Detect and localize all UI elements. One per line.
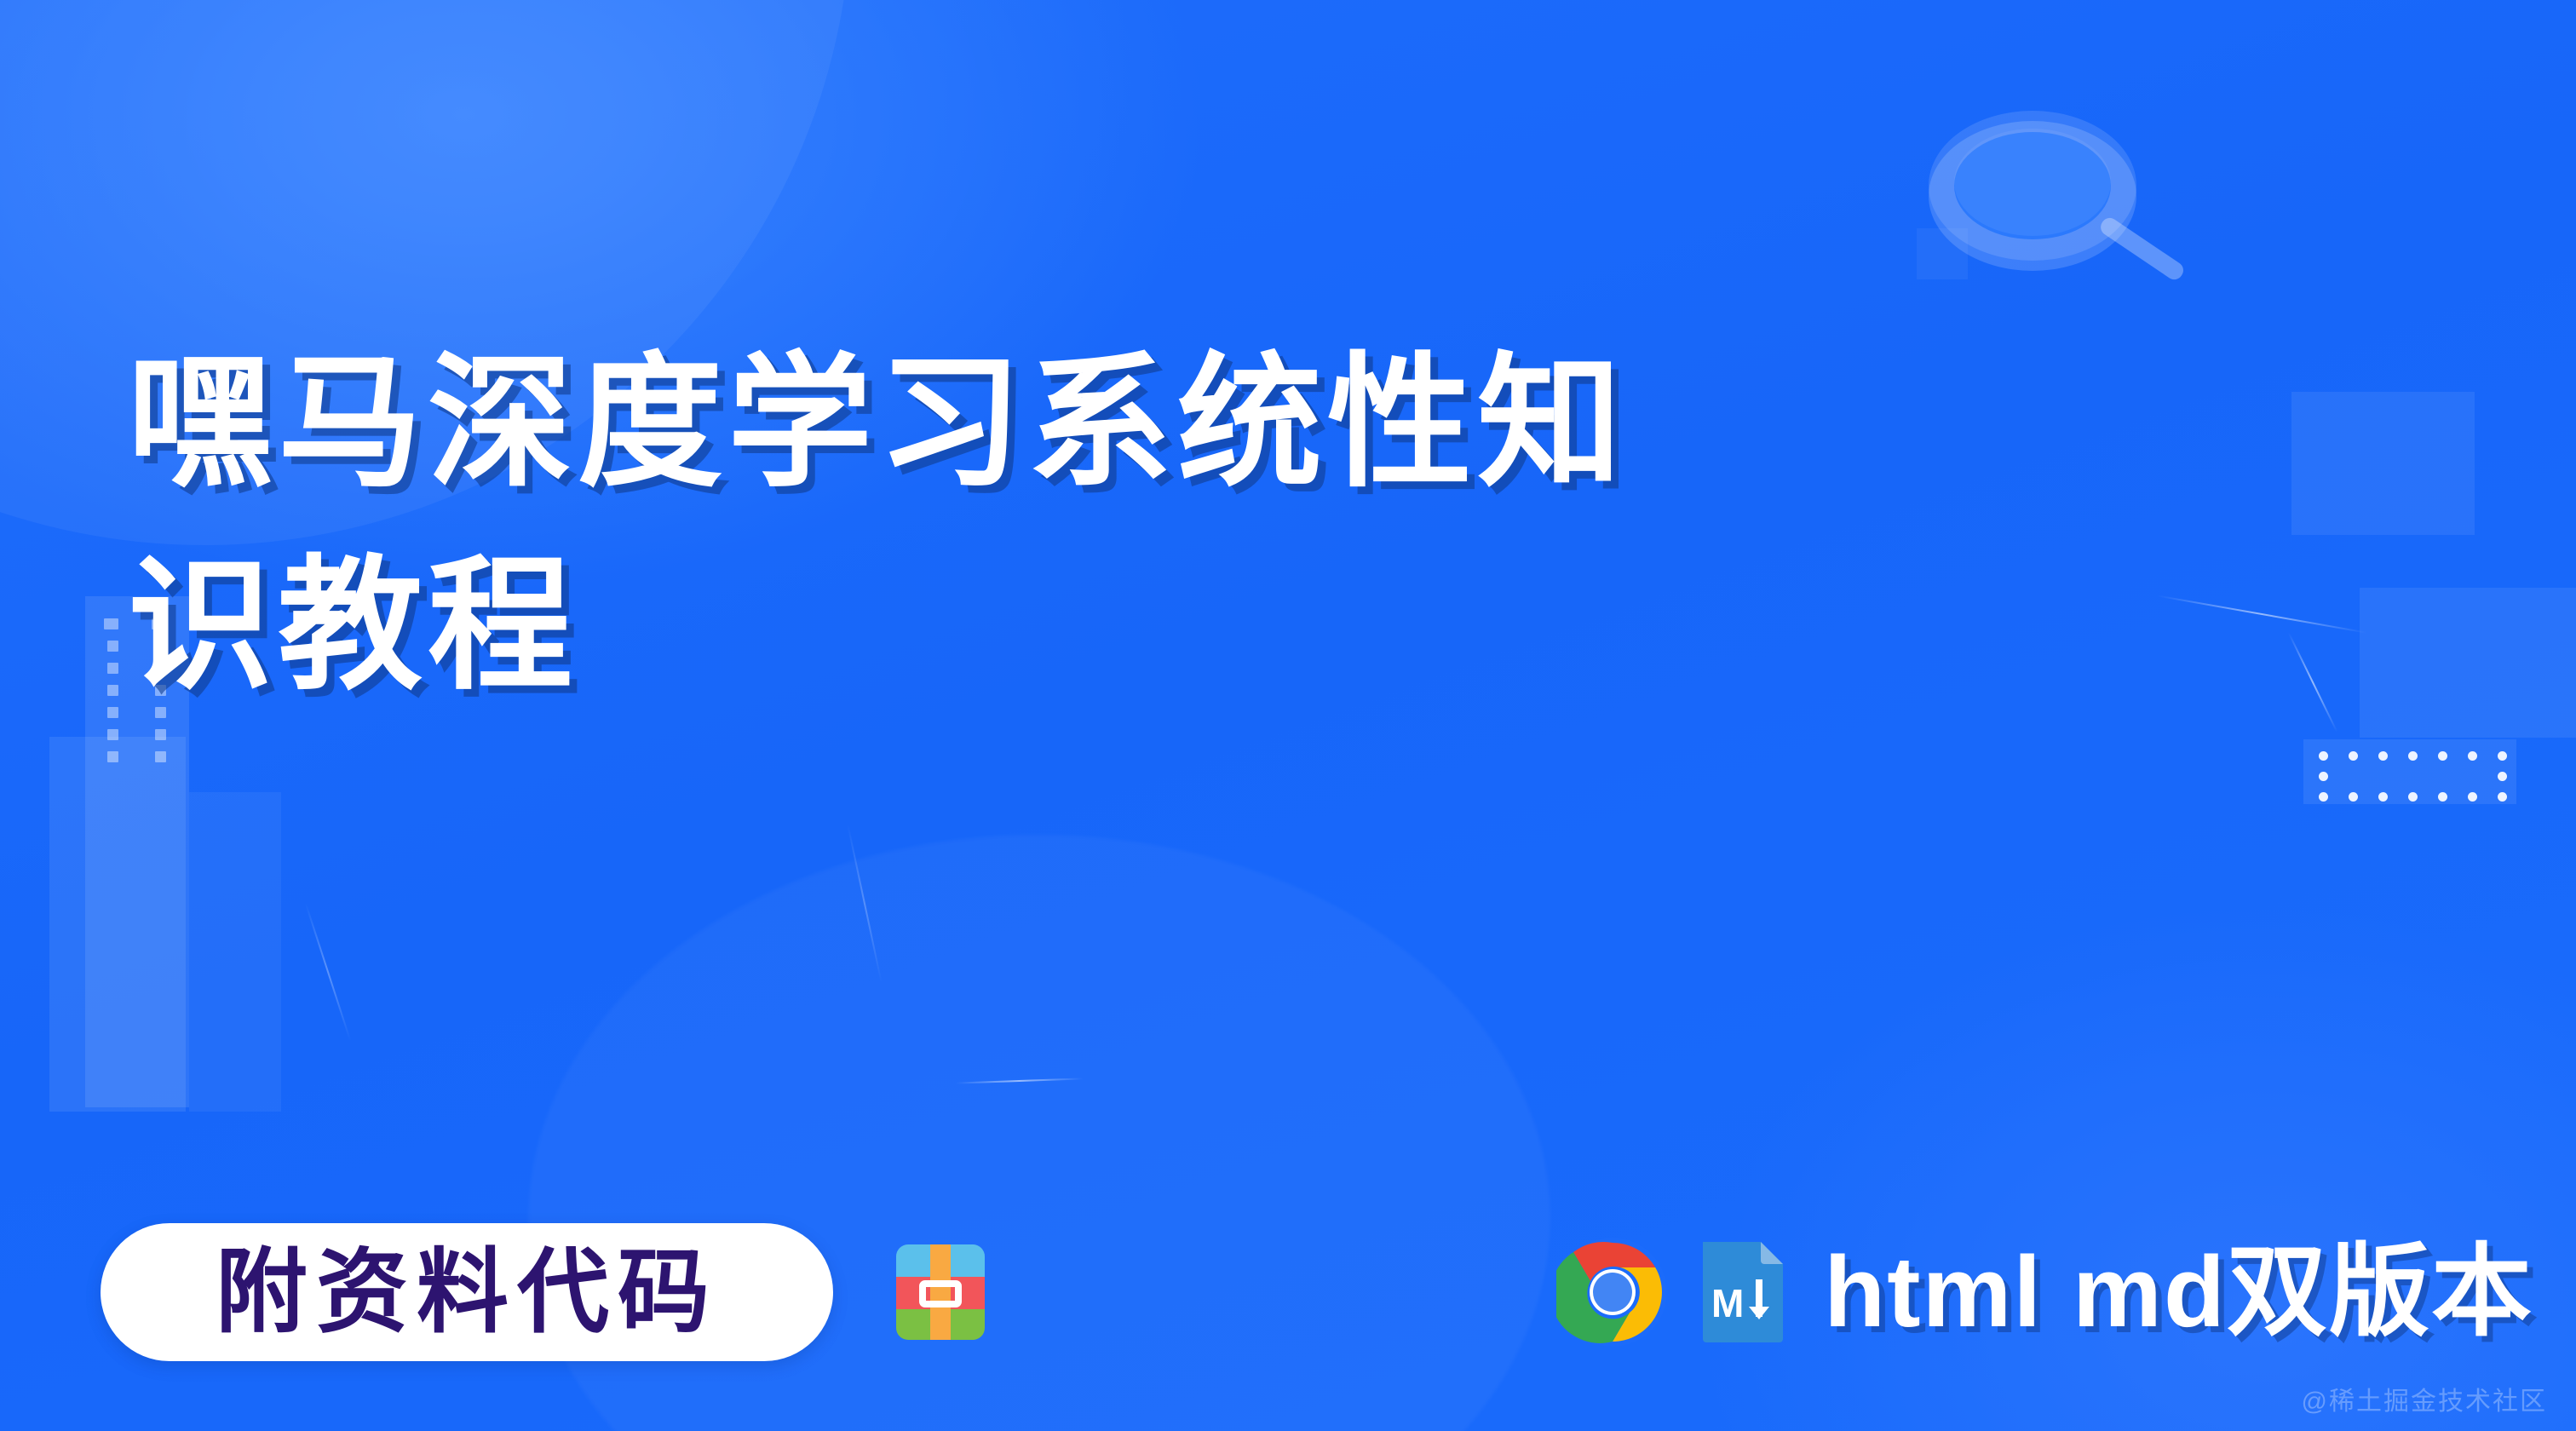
grid-dot [2349, 751, 2358, 761]
building-window [104, 618, 118, 629]
grid-dot [2319, 751, 2328, 761]
archive-package-icon [896, 1241, 985, 1343]
grid-dot [2378, 751, 2388, 761]
chrome-browser-icon [1556, 1236, 1669, 1348]
grid-dot [2408, 751, 2418, 761]
svg-text:M: M [1711, 1281, 1744, 1325]
grid-dot [2498, 751, 2507, 761]
title-line-2: 识教程 [128, 525, 2360, 727]
decorative-dot-grid [2303, 739, 2516, 804]
grid-dot [2498, 792, 2507, 802]
building-side-block [189, 792, 281, 1112]
magnifying-glass-icon [1906, 87, 2188, 308]
course-cover-poster: 嘿马深度学习系统性知 识教程 附资料代码 [0, 0, 2576, 1431]
grid-dot [2438, 751, 2447, 761]
building-window [155, 751, 166, 762]
grid-dot [2319, 772, 2328, 781]
building-window [107, 707, 118, 718]
format-group: M html md双版本 [1556, 1236, 2533, 1348]
grid-dot [2438, 792, 2447, 802]
resources-badge[interactable]: 附资料代码 [101, 1223, 833, 1361]
bottom-feature-bar: 附资料代码 [101, 1216, 2537, 1368]
building-window [107, 641, 118, 652]
building-window [155, 729, 166, 740]
grid-dot [2468, 751, 2477, 761]
building-window [107, 663, 118, 674]
grid-dot [2408, 792, 2418, 802]
resources-badge-label: 附资料代码 [216, 1246, 718, 1338]
building-window [107, 685, 118, 696]
grid-dot [2319, 792, 2328, 802]
formats-label: html md双版本 [1824, 1242, 2533, 1342]
title-line-1: 嘿马深度学习系统性知 [128, 322, 2360, 525]
grid-dot [2468, 792, 2477, 802]
markdown-file-icon: M [1698, 1238, 1788, 1346]
building-window [107, 729, 118, 740]
grid-dot [2349, 792, 2358, 802]
watermark: @稀土掘金技术社区 [2302, 1380, 2547, 1417]
poster-title: 嘿马深度学习系统性知 识教程 [128, 322, 2360, 727]
grid-dot [2498, 772, 2507, 781]
decorative-rectangle-lower-right [2360, 588, 2576, 738]
building-window [107, 751, 118, 762]
grid-dot [2378, 792, 2388, 802]
